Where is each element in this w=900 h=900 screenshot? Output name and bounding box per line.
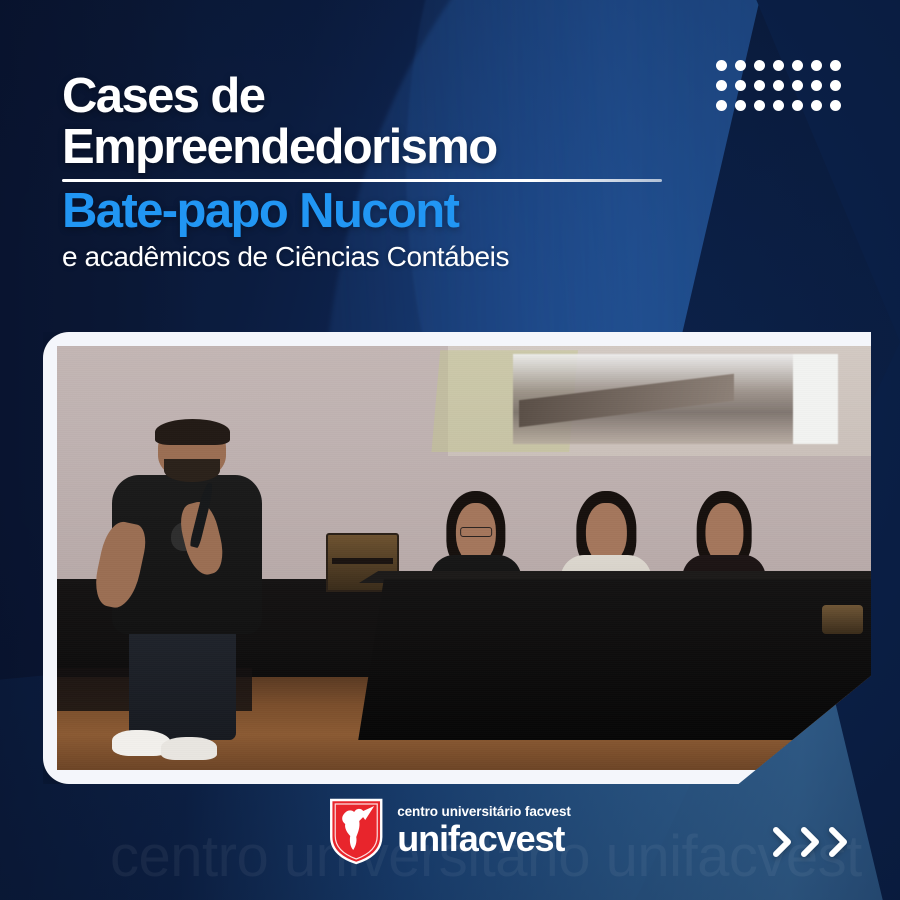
grid-dot bbox=[792, 100, 803, 111]
grid-dot bbox=[754, 100, 765, 111]
grid-dot bbox=[716, 80, 727, 91]
grid-dot bbox=[754, 60, 765, 71]
grid-dot bbox=[716, 60, 727, 71]
grid-dot bbox=[792, 80, 803, 91]
photo-speaker-shoe bbox=[161, 737, 216, 760]
event-photo bbox=[57, 346, 871, 770]
headline-subtitle: e acadêmicos de Ciências Contábeis bbox=[62, 241, 702, 272]
photo-panelist-glasses bbox=[460, 527, 492, 537]
grid-dot bbox=[811, 80, 822, 91]
headline-accent-line: Bate-papo Nucont bbox=[62, 187, 702, 236]
photo-speaker-hair bbox=[155, 419, 230, 445]
grid-dot bbox=[773, 100, 784, 111]
grid-dot bbox=[735, 100, 746, 111]
photo-draped-table bbox=[358, 579, 871, 740]
photo-speaker bbox=[106, 422, 269, 753]
brand-name: unifacvest bbox=[397, 821, 571, 857]
shield-icon bbox=[329, 797, 383, 865]
brand-lockup: centro universitário facvest unifacvest bbox=[329, 797, 571, 865]
grid-dot bbox=[735, 80, 746, 91]
photo-projection-image bbox=[513, 354, 839, 443]
headline-line-2: Empreendedorismo bbox=[62, 123, 702, 172]
grid-dot bbox=[773, 80, 784, 91]
grid-dot bbox=[773, 60, 784, 71]
brand-tagline: centro universitário facvest bbox=[397, 805, 571, 819]
grid-dot bbox=[735, 60, 746, 71]
photo-card-frame bbox=[43, 332, 871, 784]
photo-side-object bbox=[822, 605, 863, 635]
chevron-right-icon bbox=[798, 826, 824, 858]
headline-block: Cases de Empreendedorismo Bate-papo Nuco… bbox=[62, 72, 702, 272]
photo-speaker-legs bbox=[129, 621, 236, 740]
grid-dot bbox=[716, 100, 727, 111]
chevron-right-icon bbox=[826, 826, 852, 858]
dot-grid-decoration bbox=[716, 60, 849, 120]
headline-divider-rule bbox=[62, 179, 662, 182]
photo-speaker-beard bbox=[164, 459, 219, 482]
grid-dot bbox=[811, 100, 822, 111]
grid-dot bbox=[830, 80, 841, 91]
grid-dot bbox=[754, 80, 765, 91]
grid-dot bbox=[811, 60, 822, 71]
poster-canvas: centro universitário unifacvest Cases de… bbox=[0, 0, 900, 900]
headline-line-1: Cases de bbox=[62, 72, 702, 121]
chevron-right-icon bbox=[770, 826, 796, 858]
chevron-group bbox=[770, 826, 852, 858]
grid-dot bbox=[830, 100, 841, 111]
grid-dot bbox=[830, 60, 841, 71]
grid-dot bbox=[792, 60, 803, 71]
brand-text-block: centro universitário facvest unifacvest bbox=[397, 805, 571, 857]
